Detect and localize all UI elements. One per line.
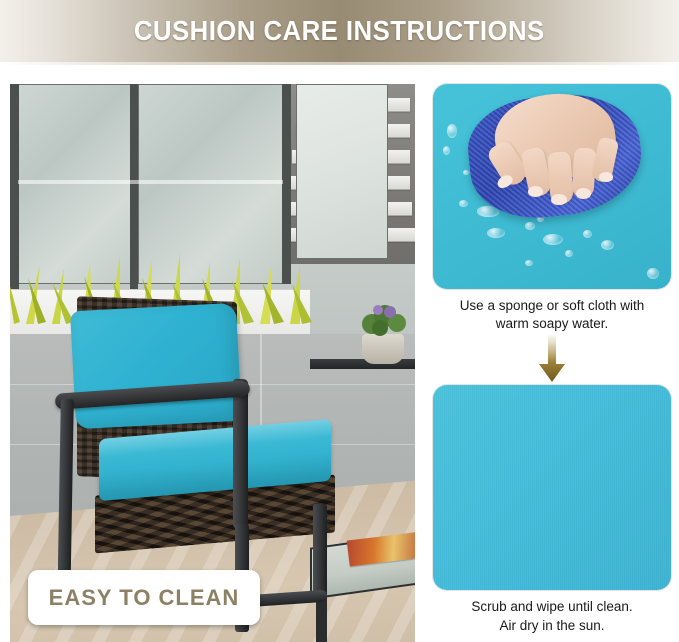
fingernail (576, 188, 591, 199)
window-transom (18, 180, 283, 184)
step-wash-caption-line1: Use a sponge or soft cloth with (430, 297, 674, 315)
water-droplet (525, 222, 535, 230)
step-wash-caption: Use a sponge or soft cloth with warm soa… (430, 297, 674, 333)
plant-foliage-icon (358, 302, 410, 340)
fingernail (551, 194, 567, 205)
page-title: CUSHION CARE INSTRUCTIONS (134, 15, 545, 47)
window-pane (296, 84, 388, 259)
potted-plant-icon (358, 302, 410, 340)
fingernail (599, 172, 613, 182)
water-droplet (463, 170, 469, 175)
chair-arm-support (233, 378, 248, 529)
water-droplet (565, 250, 573, 257)
step-dry-caption: Scrub and wipe until clean. Air dry in t… (430, 598, 674, 634)
easy-to-clean-badge: EASY TO CLEAN (28, 570, 260, 625)
step-dry-photo (433, 385, 671, 590)
step-dry-caption-line1: Scrub and wipe until clean. (430, 598, 674, 616)
instruction-steps-column: Use a sponge or soft cloth with warm soa… (425, 84, 679, 642)
clean-cushion-surface (433, 385, 671, 590)
water-droplet (647, 268, 659, 279)
chair-leg (313, 504, 327, 599)
step-flow-arrow (433, 333, 671, 385)
easy-to-clean-label: EASY TO CLEAN (49, 585, 240, 611)
hero-product-photo (10, 84, 415, 642)
fingernail (528, 186, 543, 197)
hand (485, 84, 625, 204)
header-divider (0, 62, 679, 65)
step-wash-photo (433, 84, 671, 289)
down-arrow-icon (537, 334, 567, 384)
back-cushion (70, 303, 242, 430)
header-banner: CUSHION CARE INSTRUCTIONS (0, 0, 679, 62)
water-droplet (583, 230, 592, 238)
water-droplet (459, 200, 468, 207)
water-droplet (601, 240, 614, 250)
water-droplet (447, 124, 457, 138)
step-wash-caption-line2: warm soapy water. (430, 315, 674, 333)
water-droplet (543, 234, 563, 245)
water-droplet (443, 146, 450, 155)
step-dry-caption-line2: Air dry in the sun. (430, 617, 674, 635)
water-droplet (525, 260, 533, 266)
water-droplet (487, 228, 505, 238)
